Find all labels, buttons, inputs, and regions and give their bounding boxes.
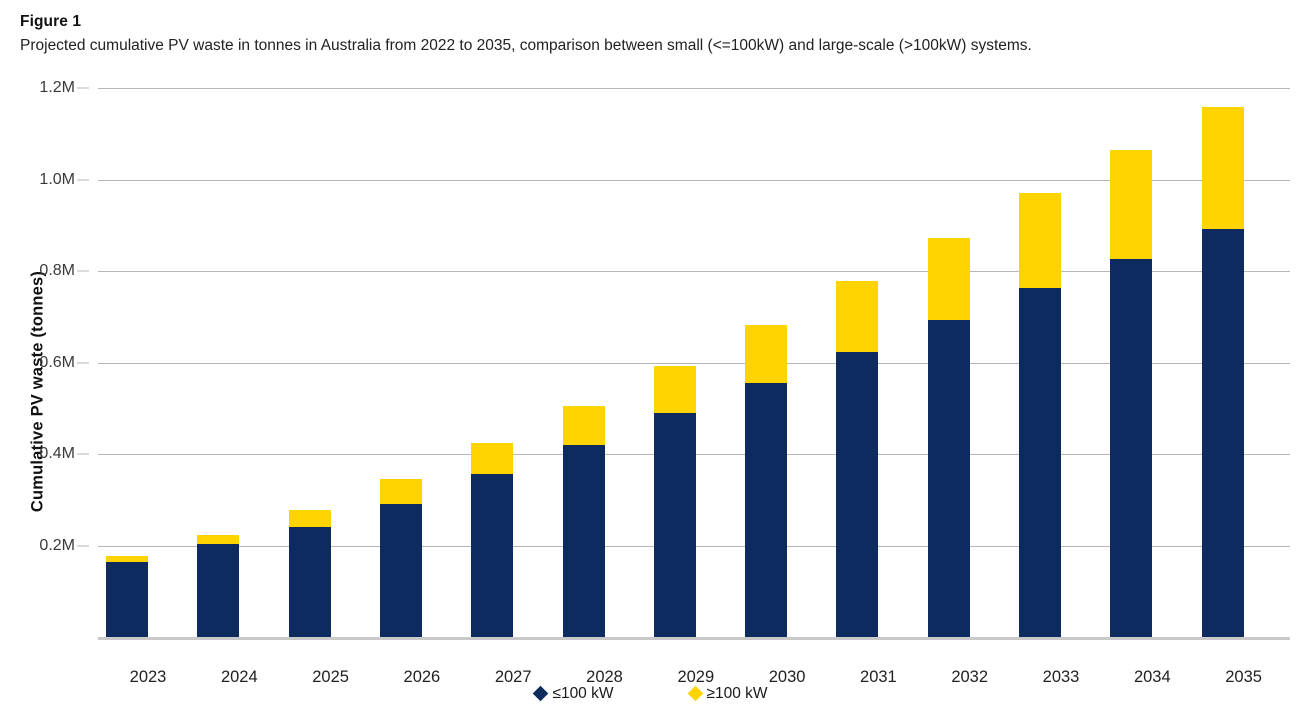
bar-segment-small-scale[interactable] — [745, 383, 787, 637]
y-tick-label: 0.2M — [0, 537, 75, 555]
figure-caption: Projected cumulative PV waste in tonnes … — [20, 35, 1290, 57]
legend-diamond-icon — [687, 686, 703, 702]
bar-segment-small-scale[interactable] — [471, 474, 513, 637]
bar-stack[interactable] — [654, 366, 696, 637]
figure-label: Figure 1 — [20, 12, 1290, 32]
bar-segment-large-scale[interactable] — [745, 325, 787, 384]
bar-segment-large-scale[interactable] — [471, 443, 513, 475]
bar-stack[interactable] — [928, 238, 970, 637]
y-tick-label: 0.6M — [0, 354, 75, 372]
bar-segment-small-scale[interactable] — [928, 320, 970, 637]
y-axis-title: Cumulative PV waste (tonnes) — [29, 132, 48, 652]
y-tick-label: 1.0M — [0, 171, 75, 189]
y-tick-mark — [77, 88, 89, 89]
bar-segment-small-scale[interactable] — [1202, 229, 1244, 637]
bar-segment-small-scale[interactable] — [106, 562, 148, 637]
y-tick-mark — [77, 454, 89, 455]
bar-segment-large-scale[interactable] — [654, 366, 696, 414]
bar-stack[interactable] — [197, 535, 239, 637]
bar-segment-large-scale[interactable] — [289, 510, 331, 527]
bar-segment-small-scale[interactable] — [654, 413, 696, 637]
bar-stack[interactable] — [289, 510, 331, 637]
bar-stack[interactable] — [106, 556, 148, 637]
bar-segment-large-scale[interactable] — [836, 281, 878, 352]
chart-area: Cumulative PV waste (tonnes) 0.2M0.4M0.6… — [0, 70, 1303, 670]
y-tick-mark — [77, 179, 89, 180]
bar-segment-large-scale[interactable] — [1019, 193, 1061, 288]
bar-segment-large-scale[interactable] — [1110, 150, 1152, 259]
bar-stack[interactable] — [1202, 107, 1244, 637]
y-tick-label: 0.4M — [0, 445, 75, 463]
y-tick-label: 0.8M — [0, 262, 75, 280]
gridline — [98, 88, 1290, 89]
bar-segment-large-scale[interactable] — [106, 556, 148, 563]
legend-item[interactable]: ≥100 kW — [690, 685, 768, 703]
bar-segment-large-scale[interactable] — [380, 479, 422, 505]
plot-region: 0.2M0.4M0.6M0.8M1.0M1.2M 202320242025202… — [98, 88, 1290, 637]
legend-item[interactable]: ≤100 kW — [535, 685, 613, 703]
x-axis-baseline — [98, 637, 1290, 640]
bar-stack[interactable] — [1110, 150, 1152, 637]
bar-segment-large-scale[interactable] — [197, 535, 239, 545]
y-tick-mark — [77, 362, 89, 363]
bar-segment-large-scale[interactable] — [563, 406, 605, 444]
y-tick-mark — [77, 545, 89, 546]
bar-segment-small-scale[interactable] — [289, 527, 331, 637]
bar-segment-small-scale[interactable] — [1019, 288, 1061, 637]
figure-header: Figure 1 Projected cumulative PV waste i… — [20, 12, 1290, 57]
bar-segment-small-scale[interactable] — [836, 352, 878, 637]
bar-segment-small-scale[interactable] — [197, 544, 239, 637]
bar-segment-small-scale[interactable] — [1110, 259, 1152, 637]
y-tick-label: 1.2M — [0, 79, 75, 97]
bar-segment-large-scale[interactable] — [1202, 107, 1244, 229]
legend-diamond-icon — [533, 686, 549, 702]
bar-stack[interactable] — [380, 479, 422, 637]
bar-stack[interactable] — [471, 443, 513, 637]
legend-label: ≥100 kW — [707, 685, 768, 702]
bar-stack[interactable] — [836, 281, 878, 637]
bar-stack[interactable] — [563, 406, 605, 637]
bar-stack[interactable] — [1019, 193, 1061, 637]
y-tick-mark — [77, 271, 89, 272]
bar-stack[interactable] — [745, 325, 787, 637]
bar-segment-small-scale[interactable] — [380, 504, 422, 637]
bar-segment-large-scale[interactable] — [928, 238, 970, 320]
chart-legend: ≤100 kW≥100 kW — [0, 685, 1303, 703]
legend-label: ≤100 kW — [552, 685, 613, 702]
bar-segment-small-scale[interactable] — [563, 445, 605, 637]
